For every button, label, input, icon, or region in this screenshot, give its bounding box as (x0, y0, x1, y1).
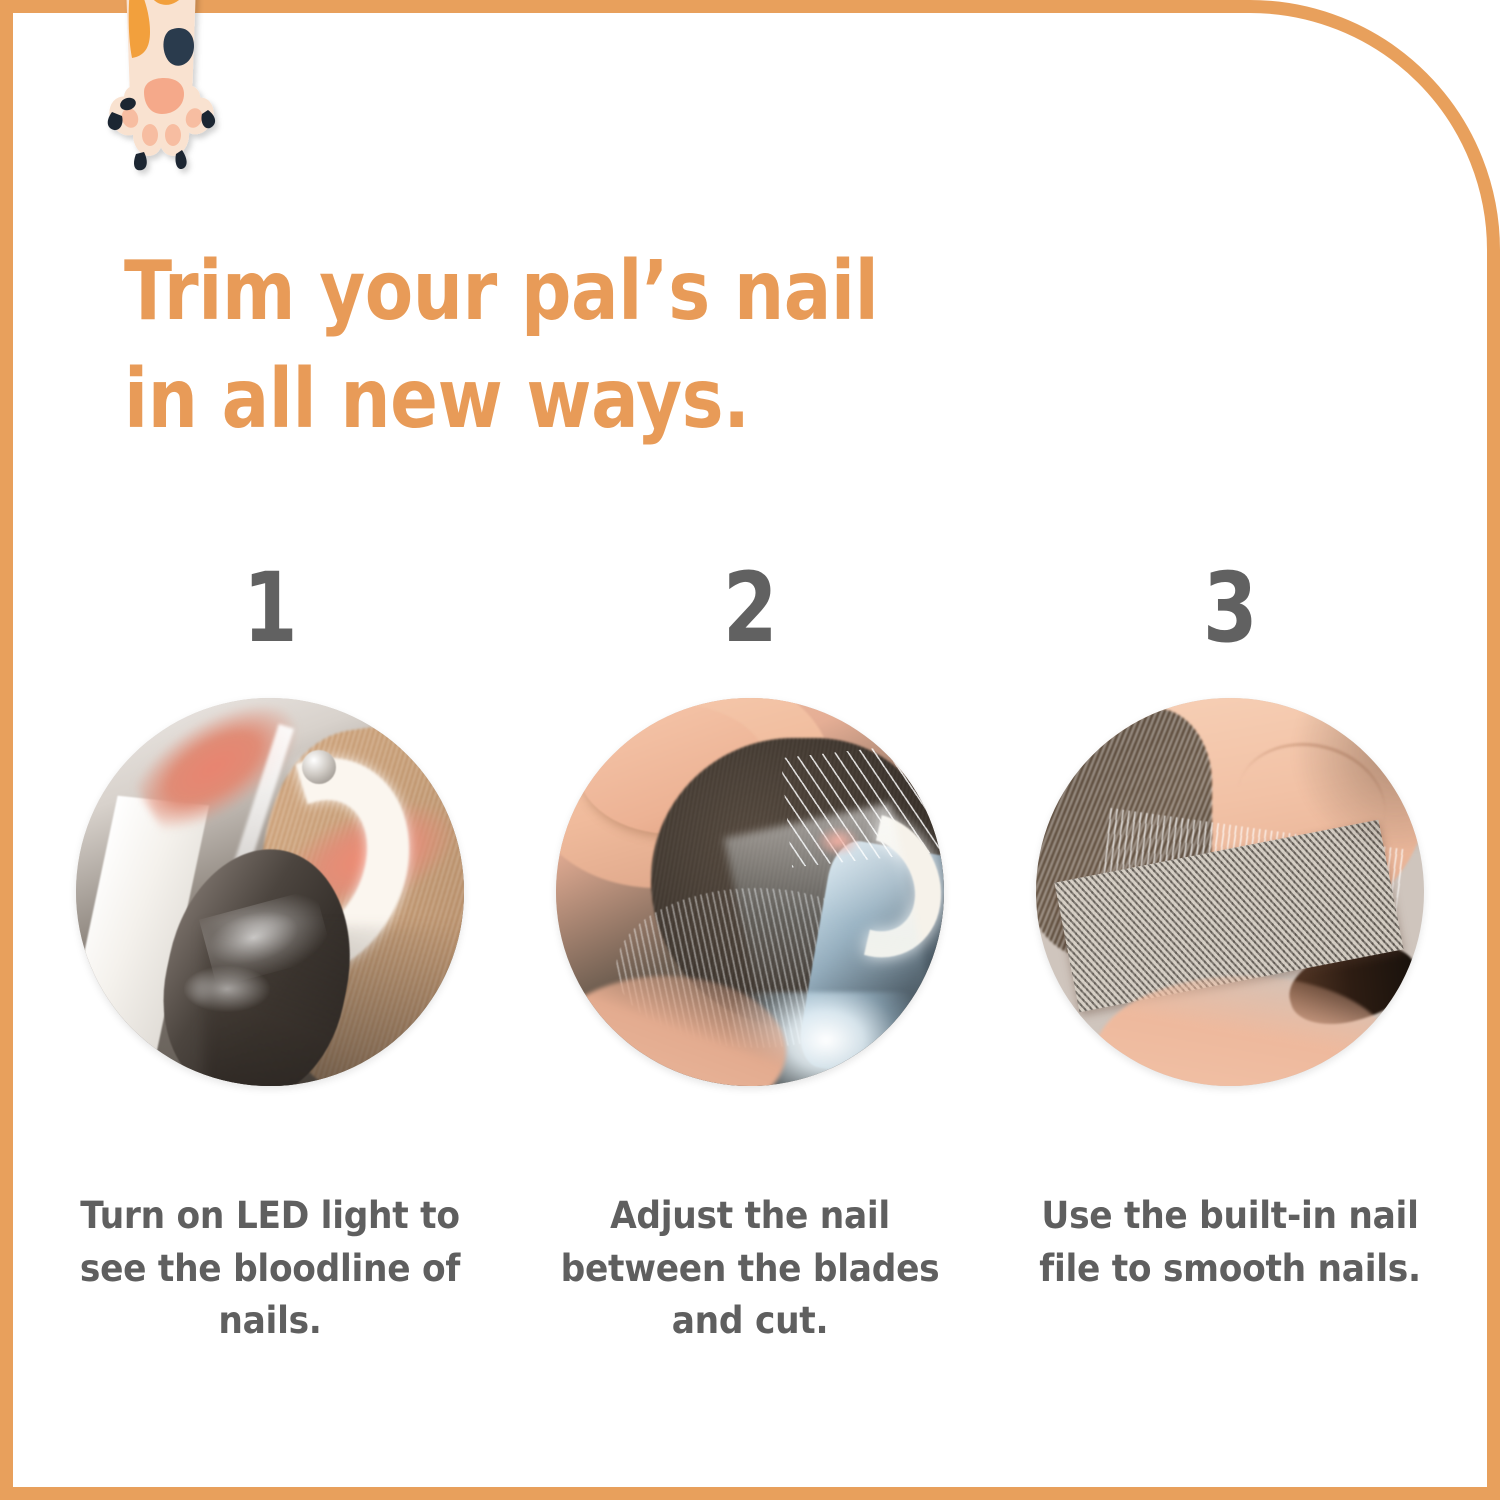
step-number-2: 2 (723, 560, 777, 660)
caption-step-2: Adjust the nail between the blades and c… (555, 1190, 946, 1348)
photo-led-bloodline (76, 698, 464, 1086)
photo1-shadow (204, 926, 464, 1086)
step-3: 3 (1020, 560, 1440, 1086)
photo-nail-file (1036, 698, 1424, 1086)
step-number-3: 3 (1203, 560, 1257, 660)
caption-step-1: Turn on LED light to see the bloodline o… (75, 1190, 466, 1348)
caption-step-3: Use the built-in nail file to smooth nai… (1035, 1190, 1426, 1295)
photo1-clipper-screw (302, 750, 336, 784)
step-2: 2 (540, 560, 960, 1086)
promo-poster: Trim your pal’s nail in all new ways. 1 (0, 0, 1500, 1500)
steps-row: 1 2 (60, 560, 1440, 1086)
step-number-1: 1 (243, 560, 297, 660)
captions-row: Turn on LED light to see the bloodline o… (60, 1190, 1440, 1348)
step-1: 1 (60, 560, 480, 1086)
photo3-shadow (1284, 698, 1424, 848)
page-title: Trim your pal’s nail in all new ways. (124, 238, 984, 454)
photo-adjust-blades (556, 698, 944, 1086)
cat-paw-icon (104, 0, 224, 184)
